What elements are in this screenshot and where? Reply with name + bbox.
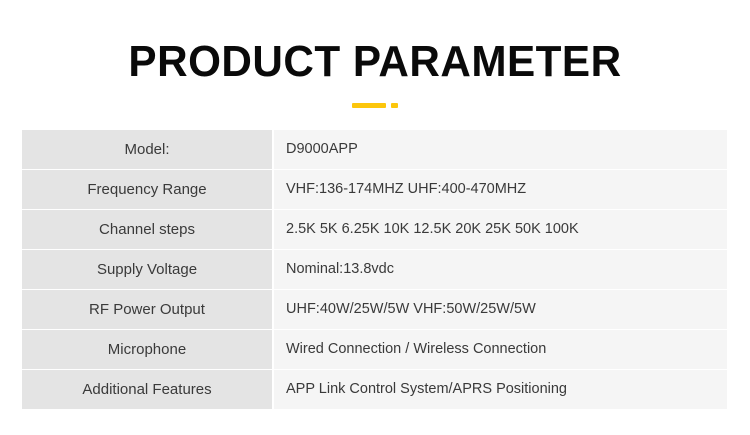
spec-value: Nominal:13.8vdc <box>274 250 727 289</box>
table-row: Supply Voltage Nominal:13.8vdc <box>22 250 727 289</box>
spec-value: APP Link Control System/APRS Positioning <box>274 370 727 409</box>
spec-label: Model: <box>22 130 272 169</box>
spec-label: Channel steps <box>22 210 272 249</box>
title-block: PRODUCT PARAMETER <box>0 38 750 108</box>
table-row: Frequency Range VHF:136-174MHZ UHF:400-4… <box>22 170 727 209</box>
table-row: Microphone Wired Connection / Wireless C… <box>22 330 727 369</box>
product-parameter-page: PRODUCT PARAMETER Model: D9000APP Freque… <box>0 0 750 435</box>
spec-label: Supply Voltage <box>22 250 272 289</box>
spec-label: Additional Features <box>22 370 272 409</box>
spec-value: Wired Connection / Wireless Connection <box>274 330 727 369</box>
spec-value: 2.5K 5K 6.25K 10K 12.5K 20K 25K 50K 100K <box>274 210 727 249</box>
spec-label: Frequency Range <box>22 170 272 209</box>
table-row: RF Power Output UHF:40W/25W/5W VHF:50W/2… <box>22 290 727 329</box>
table-row: Model: D9000APP <box>22 130 727 169</box>
title-divider <box>0 103 750 108</box>
divider-bar-icon <box>352 103 386 108</box>
spec-value: D9000APP <box>274 130 727 169</box>
table-row: Channel steps 2.5K 5K 6.25K 10K 12.5K 20… <box>22 210 727 249</box>
page-title: PRODUCT PARAMETER <box>15 38 735 86</box>
spec-value: UHF:40W/25W/5W VHF:50W/25W/5W <box>274 290 727 329</box>
spec-value: VHF:136-174MHZ UHF:400-470MHZ <box>274 170 727 209</box>
specification-table: Model: D9000APP Frequency Range VHF:136-… <box>22 130 727 409</box>
divider-dot-icon <box>391 103 398 108</box>
spec-label: Microphone <box>22 330 272 369</box>
spec-label: RF Power Output <box>22 290 272 329</box>
table-row: Additional Features APP Link Control Sys… <box>22 370 727 409</box>
